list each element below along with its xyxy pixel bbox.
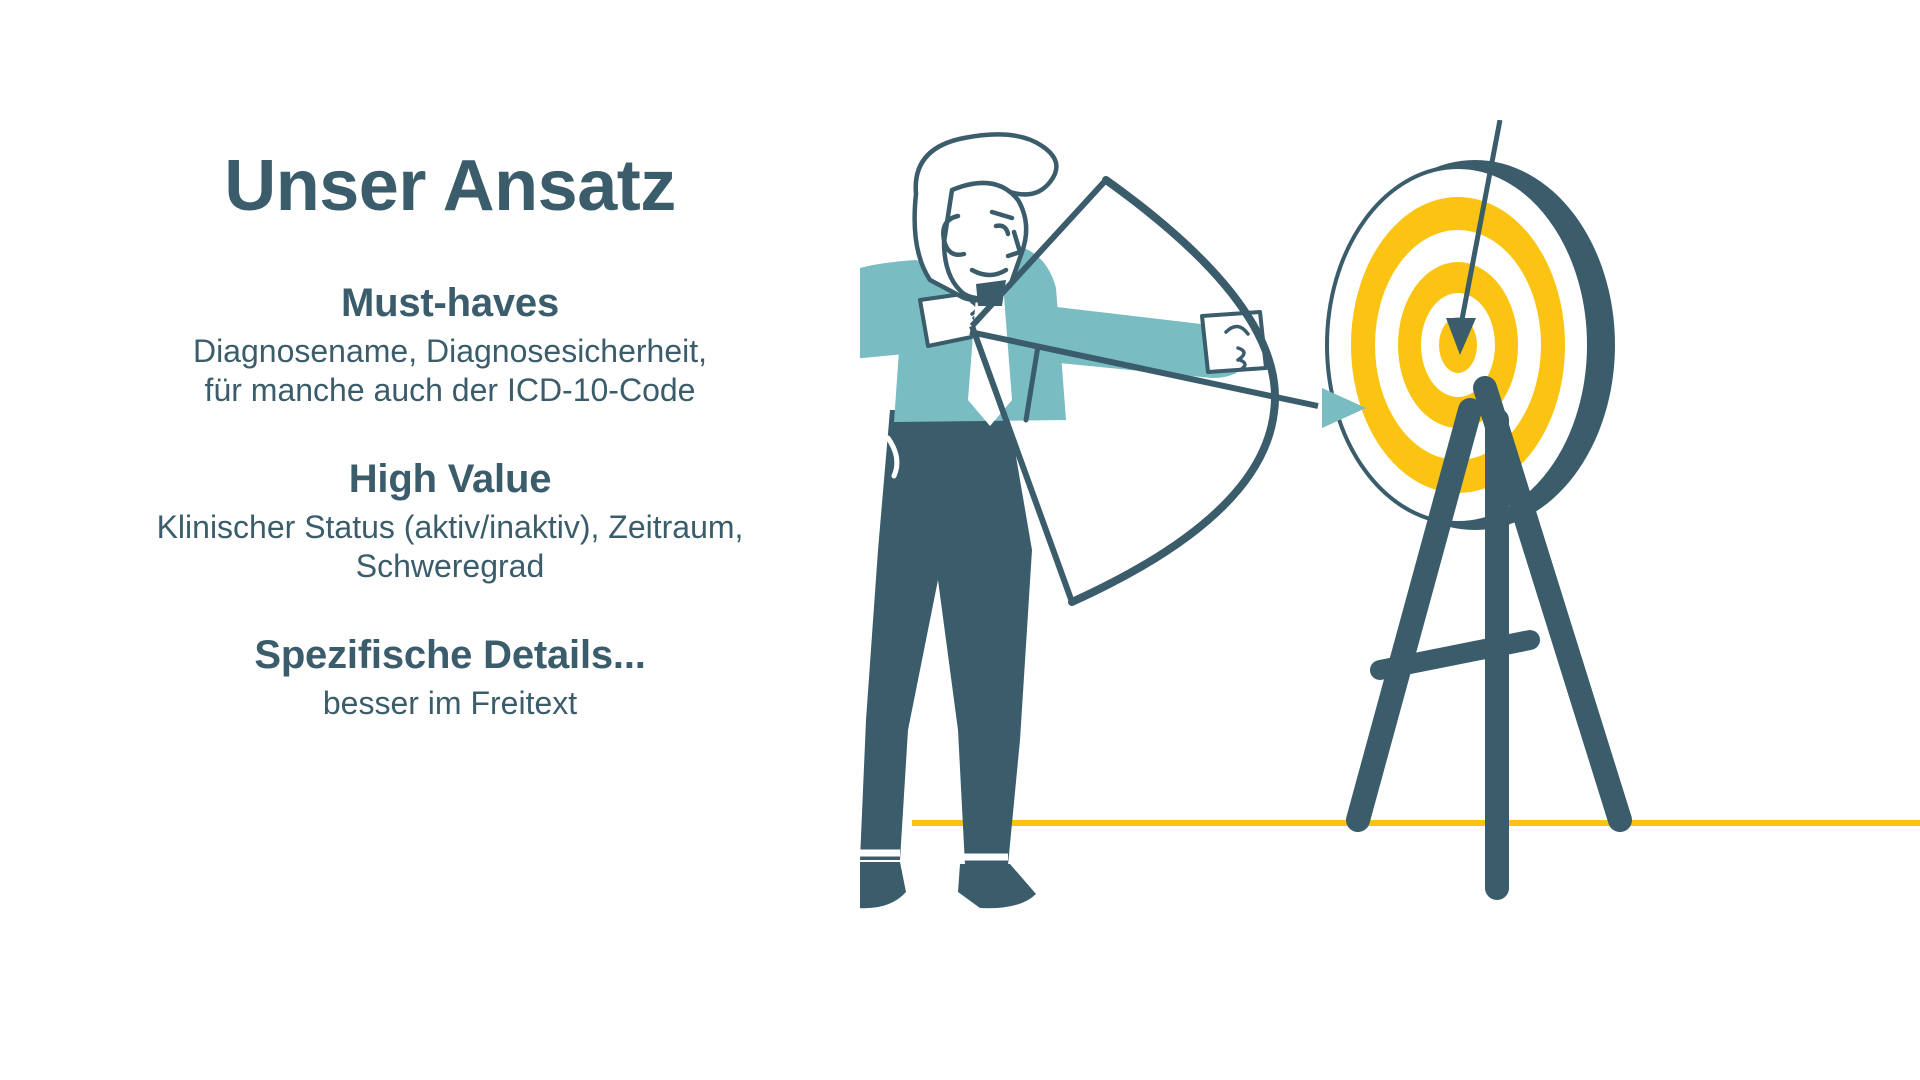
text-column: Unser Ansatz Must-haves Diagnosename, Di…	[0, 150, 900, 723]
shoe-right	[958, 864, 1036, 908]
section-heading-high-value: High Value	[28, 456, 872, 502]
section-must-haves: Must-haves Diagnosename, Diagnosesicherh…	[0, 280, 900, 410]
section-spezifische-details: Spezifische Details... besser im Freitex…	[0, 632, 900, 723]
section-body-line: Diagnosename, Diagnosesicherheit,	[193, 333, 707, 369]
archer-trousers	[860, 410, 1032, 865]
section-body-high-value: Klinischer Status (aktiv/inaktiv), Zeitr…	[28, 508, 872, 586]
section-heading-must-haves: Must-haves	[28, 280, 872, 326]
section-high-value: High Value Klinischer Status (aktiv/inak…	[0, 456, 900, 586]
section-body-line: besser im Freitext	[323, 685, 577, 721]
archer-front-hand	[1202, 312, 1266, 372]
shoe-left	[860, 862, 906, 908]
page-title: Unser Ansatz	[0, 150, 900, 222]
section-body-must-haves: Diagnosename, Diagnosesicherheit, für ma…	[28, 332, 872, 410]
slide-root: Unser Ansatz Must-haves Diagnosename, Di…	[0, 0, 1920, 1080]
archer-illustration	[860, 120, 1920, 910]
section-body-line: Klinischer Status (aktiv/inaktiv), Zeitr…	[157, 509, 744, 545]
section-body-line: Schweregrad	[356, 548, 545, 584]
section-heading-spezifische-details: Spezifische Details...	[28, 632, 872, 678]
archer-illustration-svg	[860, 120, 1920, 910]
section-body-line: für manche auch der ICD-10-Code	[205, 372, 696, 408]
archery-target	[1327, 160, 1615, 530]
section-body-spezifische-details: besser im Freitext	[28, 684, 872, 723]
